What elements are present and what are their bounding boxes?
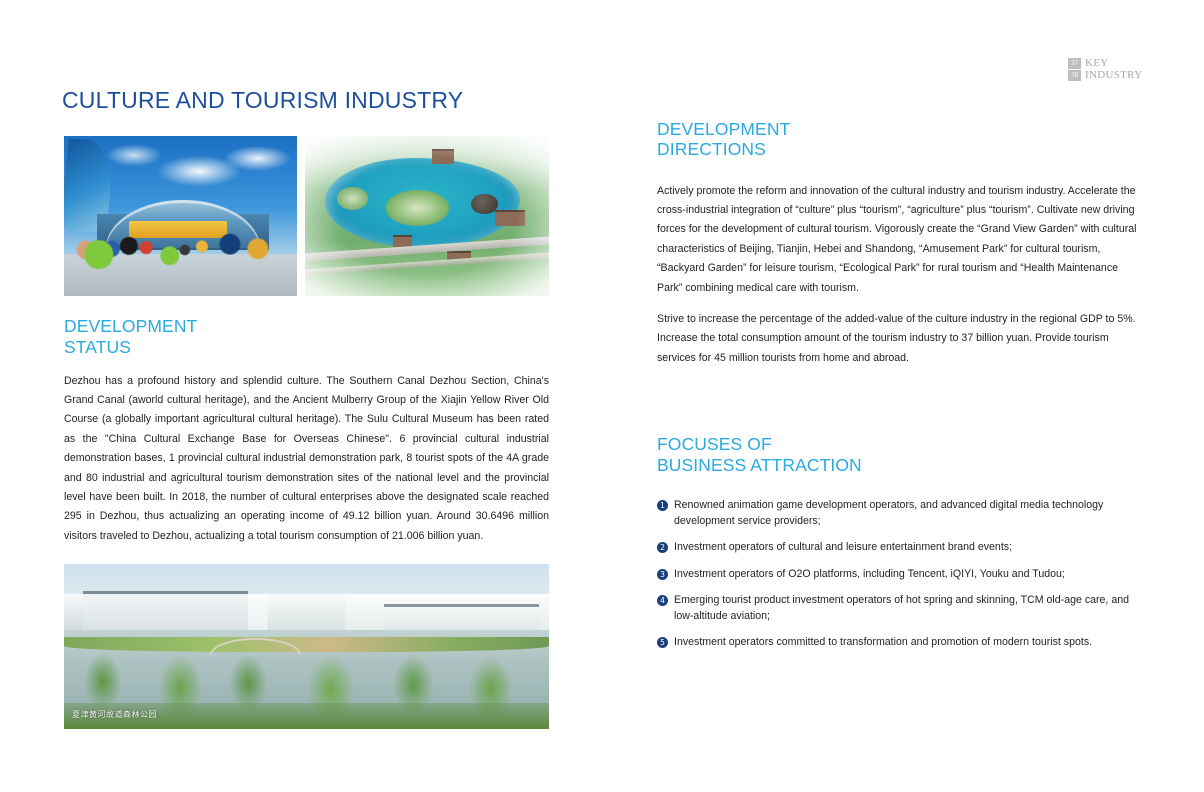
list-item-text: Renowned animation game development oper… bbox=[674, 499, 1103, 527]
key-industry-corner-badge: 37 38 KEY INDUSTRY bbox=[1068, 58, 1142, 81]
top-photo-row bbox=[64, 136, 549, 296]
photo-forest-park-lake: 夏津黄河故道森林公园 bbox=[64, 564, 549, 729]
key-industry-label-line2: INDUSTRY bbox=[1085, 70, 1142, 82]
focuses-heading-line1: FOCUSES OF bbox=[657, 434, 772, 454]
photo-aerial-lake-park bbox=[305, 136, 549, 296]
development-directions-heading: DEVELOPMENT DIRECTIONS bbox=[657, 119, 1144, 160]
lake-right-village-buildings bbox=[384, 604, 539, 633]
list-number-badge: 5 bbox=[657, 637, 668, 648]
development-status-heading: DEVELOPMENT STATUS bbox=[64, 316, 549, 357]
list-item-text: Investment operators committed to transf… bbox=[674, 636, 1092, 648]
list-number-badge: 3 bbox=[657, 569, 668, 580]
aquarium-crowd-and-mascots bbox=[73, 214, 287, 272]
focuses-list: 1 Renowned animation game development op… bbox=[657, 498, 1144, 651]
page-number-left: 37 bbox=[1068, 58, 1081, 69]
development-directions-heading-line2: DIRECTIONS bbox=[657, 139, 1144, 160]
list-item: 3 Investment operators of O2O platforms,… bbox=[657, 567, 1144, 583]
development-status-heading-line1: DEVELOPMENT bbox=[64, 316, 197, 336]
lake-white-hotel-building bbox=[83, 591, 248, 634]
page-title: CULTURE AND TOURISM INDUSTRY bbox=[62, 87, 463, 114]
aerial-vignette-haze bbox=[305, 136, 549, 296]
list-item-text: Emerging tourist product investment oper… bbox=[674, 594, 1129, 622]
list-item: 4 Emerging tourist product investment op… bbox=[657, 593, 1144, 624]
list-number-badge: 2 bbox=[657, 542, 668, 553]
list-item: 2 Investment operators of cultural and l… bbox=[657, 540, 1144, 556]
development-directions-heading-line1: DEVELOPMENT bbox=[657, 119, 790, 139]
page-number-right: 38 bbox=[1068, 70, 1081, 81]
list-number-badge: 1 bbox=[657, 500, 668, 511]
right-column: DEVELOPMENT DIRECTIONS Actively promote … bbox=[657, 104, 1144, 651]
list-item: 5 Investment operators committed to tran… bbox=[657, 635, 1144, 651]
key-industry-label: KEY INDUSTRY bbox=[1085, 58, 1142, 81]
list-item-text: Investment operators of O2O platforms, i… bbox=[674, 568, 1065, 580]
photo-caption: 夏津黄河故道森林公园 bbox=[72, 709, 157, 720]
page-number-block: 37 38 bbox=[1068, 58, 1081, 81]
focuses-heading-line2: BUSINESS ATTRACTION bbox=[657, 455, 1144, 476]
focuses-of-business-attraction-heading: FOCUSES OF BUSINESS ATTRACTION bbox=[657, 434, 1144, 475]
development-status-body: Dezhou has a profound history and splend… bbox=[64, 372, 549, 547]
list-number-badge: 4 bbox=[657, 595, 668, 606]
development-directions-body-2: Strive to increase the percentage of the… bbox=[657, 310, 1144, 368]
list-item-text: Investment operators of cultural and lei… bbox=[674, 541, 1012, 553]
key-industry-label-line1: KEY bbox=[1085, 58, 1142, 70]
list-item: 1 Renowned animation game development op… bbox=[657, 498, 1144, 529]
left-column: DEVELOPMENT STATUS Dezhou has a profound… bbox=[64, 136, 549, 729]
development-status-heading-line2: STATUS bbox=[64, 337, 549, 358]
development-directions-body-1: Actively promote the reform and innovati… bbox=[657, 182, 1144, 298]
photo-ocean-park bbox=[64, 136, 297, 296]
